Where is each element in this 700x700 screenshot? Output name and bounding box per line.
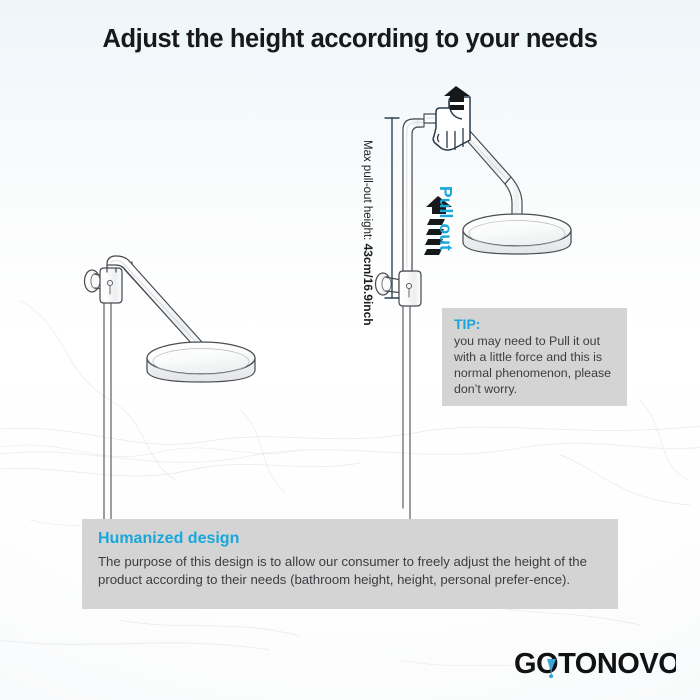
panel-body: The purpose of this design is to allow o… [98,553,602,588]
rain-shower-head-right [463,214,571,254]
slider-bracket-right [399,271,421,306]
hand-grip-icon [433,97,470,150]
dimension-line [385,118,399,298]
humanized-design-panel: Humanized design The purpose of this des… [82,519,618,609]
tip-title: TIP: [454,317,615,332]
infographic-page: Adjust the height according to your need… [0,0,700,700]
panel-title: Humanized design [98,530,602,548]
tip-box: TIP: you may need to Pull it out with a … [442,308,627,406]
shower-lowered-illustration [85,256,256,556]
slider-bracket-left [100,268,122,303]
gotonovo-logo-mark: GOTONOVO [514,646,676,682]
wall-flange-right [376,273,400,295]
max-pullout-height-label: Max pull-out height: 43cm/16.9inch [360,140,374,326]
pull-out-label: Pull out [435,186,455,251]
tip-body: you may need to Pull it out with a littl… [454,334,615,398]
dimension-label-line1: Max pull-out height: [361,140,373,240]
dimension-label-line2: 43cm/16.9inch [361,244,375,326]
brand-wordmark: GOTONOVO [514,648,676,680]
brand-logo: GOTONOVO [514,646,676,682]
rain-shower-head-left [147,342,255,382]
